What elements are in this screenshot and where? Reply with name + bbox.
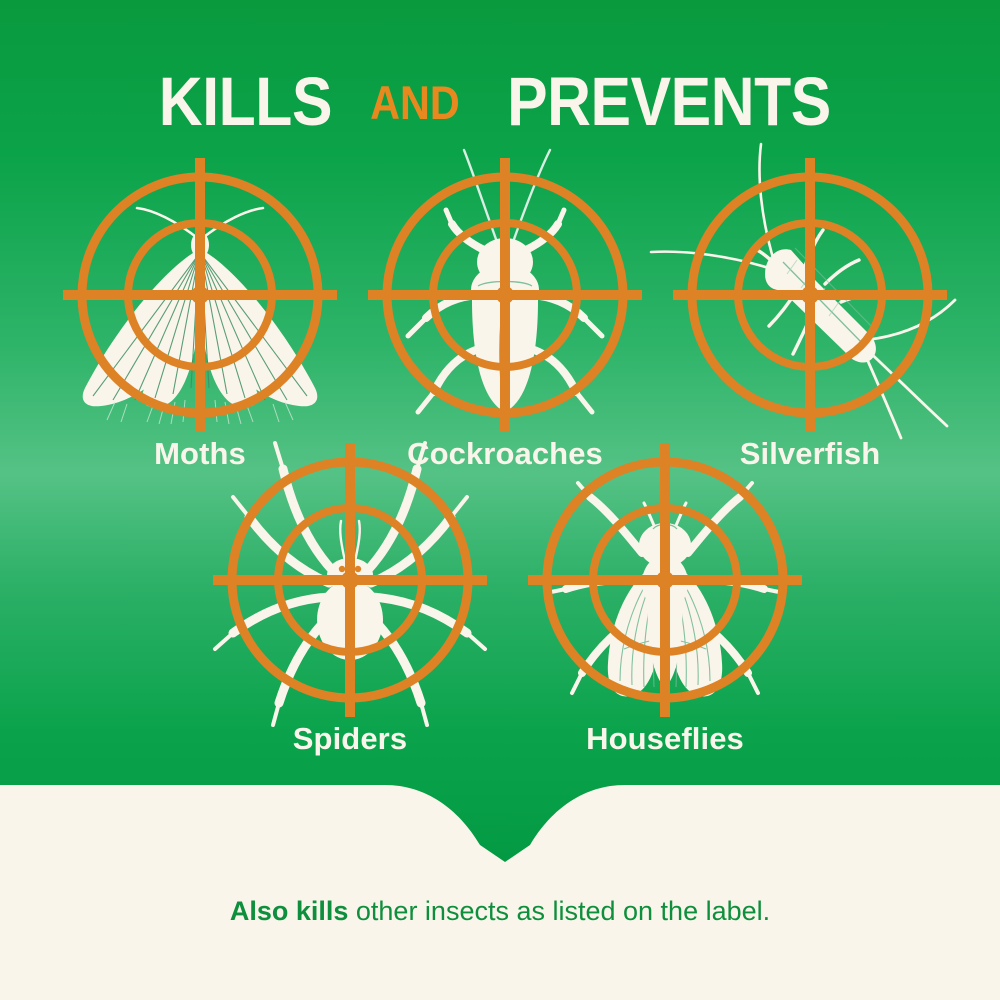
reticle-center-dot (496, 286, 514, 304)
footer-rest-text: other insects as listed on the label. (348, 896, 770, 926)
pest-cell-cockroaches: Cockroaches (360, 150, 650, 440)
pest-cell-houseflies: Houseflies (520, 435, 810, 725)
pest-cell-moths: Moths (55, 150, 345, 440)
reticle-center-dot (191, 286, 209, 304)
title-kills: KILLS (159, 62, 332, 141)
footer-bold-text: Also kills (230, 896, 349, 926)
reticle-center-dot (341, 571, 359, 589)
pest-cell-spiders: Spiders (205, 435, 495, 725)
title-and: AND (368, 75, 461, 130)
title-prevents: PREVENTS (507, 62, 831, 141)
reticle-center-dot (801, 286, 819, 304)
pest-cell-silverfish: Silverfish (665, 150, 955, 440)
infographic-poster: KILLSANDPREVENTS (0, 0, 1000, 1000)
footer-note: Also kills other insects as listed on th… (0, 896, 1000, 927)
pest-label-spiders: Spiders (205, 721, 495, 757)
page-title: KILLSANDPREVENTS (0, 62, 1000, 141)
reticle-center-dot (656, 571, 674, 589)
footer-line: Also kills other insects as listed on th… (230, 896, 770, 926)
pest-label-houseflies: Houseflies (520, 721, 810, 757)
